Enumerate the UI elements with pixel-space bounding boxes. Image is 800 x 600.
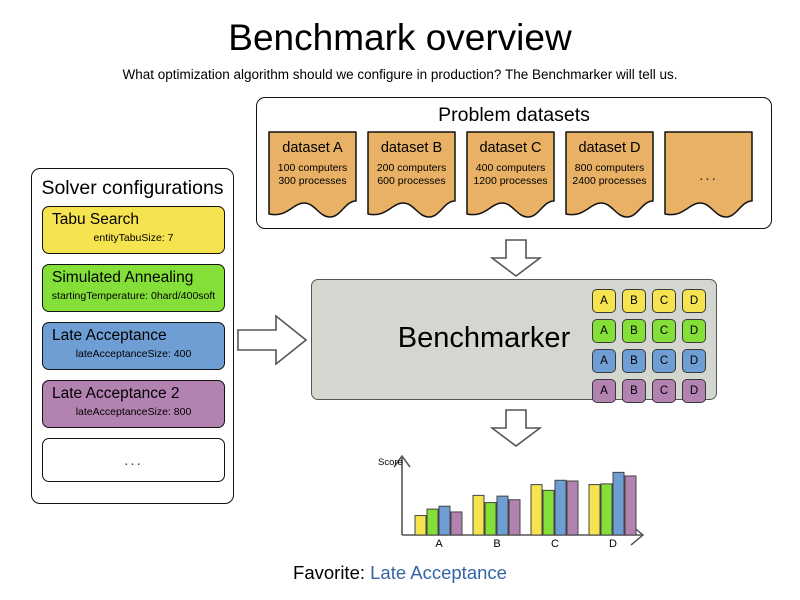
problem-datasets-title: Problem datasets [257, 98, 771, 128]
arrow-down-icon-results [490, 408, 542, 448]
solver-config-param: entityTabuSize: 7 [43, 231, 224, 245]
benchmark-chip[interactable]: D [682, 319, 706, 343]
favorite-line: Favorite: Late Acceptance [0, 560, 800, 585]
solver-config-card[interactable]: Late AcceptancelateAcceptanceSize: 400 [42, 322, 225, 370]
solver-config-param: lateAcceptanceSize: 400 [43, 347, 224, 361]
page-subtitle: What optimization algorithm should we co… [0, 66, 800, 84]
chart-bar [531, 485, 542, 535]
solver-config-card[interactable]: Tabu SearchentityTabuSize: 7 [42, 206, 225, 254]
solver-config-param: startingTemperature: 0hard/400soft [43, 289, 224, 303]
chart-bar [451, 512, 462, 535]
chart-bar [497, 496, 508, 535]
chart-bar [485, 503, 496, 535]
problem-datasets-panel: Problem datasets dataset A100 computers3… [256, 97, 772, 229]
dataset-name: dataset D [565, 139, 654, 158]
solver-configurations-panel: Solver configurations Tabu SearchentityT… [31, 168, 234, 504]
benchmark-matrix: ABCDABCDABCDABCD [592, 289, 706, 403]
benchmarker-box: Benchmarker ABCDABCDABCDABCD [311, 279, 717, 400]
dataset-card[interactable]: dataset A100 computers300 processes [268, 131, 357, 219]
benchmark-result-chart: Score A B C D [375, 450, 655, 555]
benchmark-chip[interactable]: B [622, 289, 646, 313]
chart-bar [567, 481, 578, 535]
chart-bar [439, 506, 450, 535]
favorite-prefix-label: Favorite: [293, 562, 365, 583]
benchmark-chip[interactable]: B [622, 379, 646, 403]
solver-config-more[interactable]: ... [42, 438, 225, 482]
dataset-processes: 600 processes [367, 174, 456, 188]
problem-datasets-list: dataset A100 computers300 processesdatas… [268, 131, 753, 219]
chart-bar [613, 472, 624, 535]
benchmark-chip[interactable]: A [592, 349, 616, 373]
benchmark-chip[interactable]: A [592, 289, 616, 313]
dataset-card[interactable]: dataset D800 computers2400 processes [565, 131, 654, 219]
chart-x-tick-d: D [598, 538, 628, 551]
chart-x-tick-c: C [540, 538, 570, 551]
benchmark-chip[interactable]: D [682, 289, 706, 313]
chart-bar [427, 509, 438, 535]
dataset-name: dataset B [367, 139, 456, 158]
benchmark-chip[interactable]: A [592, 379, 616, 403]
page-title: Benchmark overview [0, 16, 800, 60]
solver-config-name: Simulated Annealing [52, 268, 193, 288]
benchmark-chip[interactable]: C [652, 349, 676, 373]
solver-config-name: Late Acceptance [52, 326, 167, 346]
chart-bar [555, 480, 566, 535]
dataset-processes: 300 processes [268, 174, 357, 188]
dataset-card[interactable]: dataset B200 computers600 processes [367, 131, 456, 219]
chart-y-axis-label: Score [378, 457, 403, 469]
dataset-name: dataset A [268, 139, 357, 158]
solver-config-card[interactable]: Late Acceptance 2lateAcceptanceSize: 800 [42, 380, 225, 428]
dataset-card-more[interactable]: ... [664, 131, 753, 219]
arrow-down-icon-datasets [490, 238, 542, 278]
benchmark-chip[interactable]: B [622, 349, 646, 373]
chart-x-tick-a: A [424, 538, 454, 551]
benchmark-chip[interactable]: A [592, 319, 616, 343]
ellipsis-label: ... [664, 167, 753, 184]
diagram-canvas: Benchmark overview What optimization alg… [0, 0, 800, 600]
solver-config-param: lateAcceptanceSize: 800 [43, 405, 224, 419]
chart-bar [415, 516, 426, 535]
chart-bar [473, 495, 484, 535]
benchmarker-label: Benchmarker [334, 318, 634, 358]
arrow-right-icon [236, 314, 308, 366]
solver-configurations-title: Solver configurations [32, 169, 233, 201]
chart-bar [589, 485, 600, 535]
solver-config-name: Late Acceptance 2 [52, 384, 180, 404]
solver-config-card[interactable]: Simulated AnnealingstartingTemperature: … [42, 264, 225, 312]
chart-bar [601, 484, 612, 535]
benchmark-chip[interactable]: C [652, 379, 676, 403]
dataset-name: dataset C [466, 139, 555, 158]
chart-bar [509, 500, 520, 535]
dataset-computers: 400 computers [466, 161, 555, 175]
chart-bar [543, 490, 554, 535]
ellipsis-label: ... [43, 452, 224, 469]
chart-x-tick-b: B [482, 538, 512, 551]
benchmark-chip[interactable]: C [652, 289, 676, 313]
dataset-computers: 800 computers [565, 161, 654, 175]
benchmark-chip[interactable]: D [682, 379, 706, 403]
benchmark-chip[interactable]: D [682, 349, 706, 373]
dataset-processes: 2400 processes [565, 174, 654, 188]
chart-bar [625, 476, 636, 535]
solver-configurations-list: Tabu SearchentityTabuSize: 7Simulated An… [42, 206, 225, 492]
benchmark-chip[interactable]: C [652, 319, 676, 343]
dataset-processes: 1200 processes [466, 174, 555, 188]
solver-config-name: Tabu Search [52, 210, 139, 230]
dataset-computers: 100 computers [268, 161, 357, 175]
dataset-computers: 200 computers [367, 161, 456, 175]
favorite-value[interactable]: Late Acceptance [370, 562, 507, 583]
benchmark-chip[interactable]: B [622, 319, 646, 343]
dataset-card[interactable]: dataset C400 computers1200 processes [466, 131, 555, 219]
